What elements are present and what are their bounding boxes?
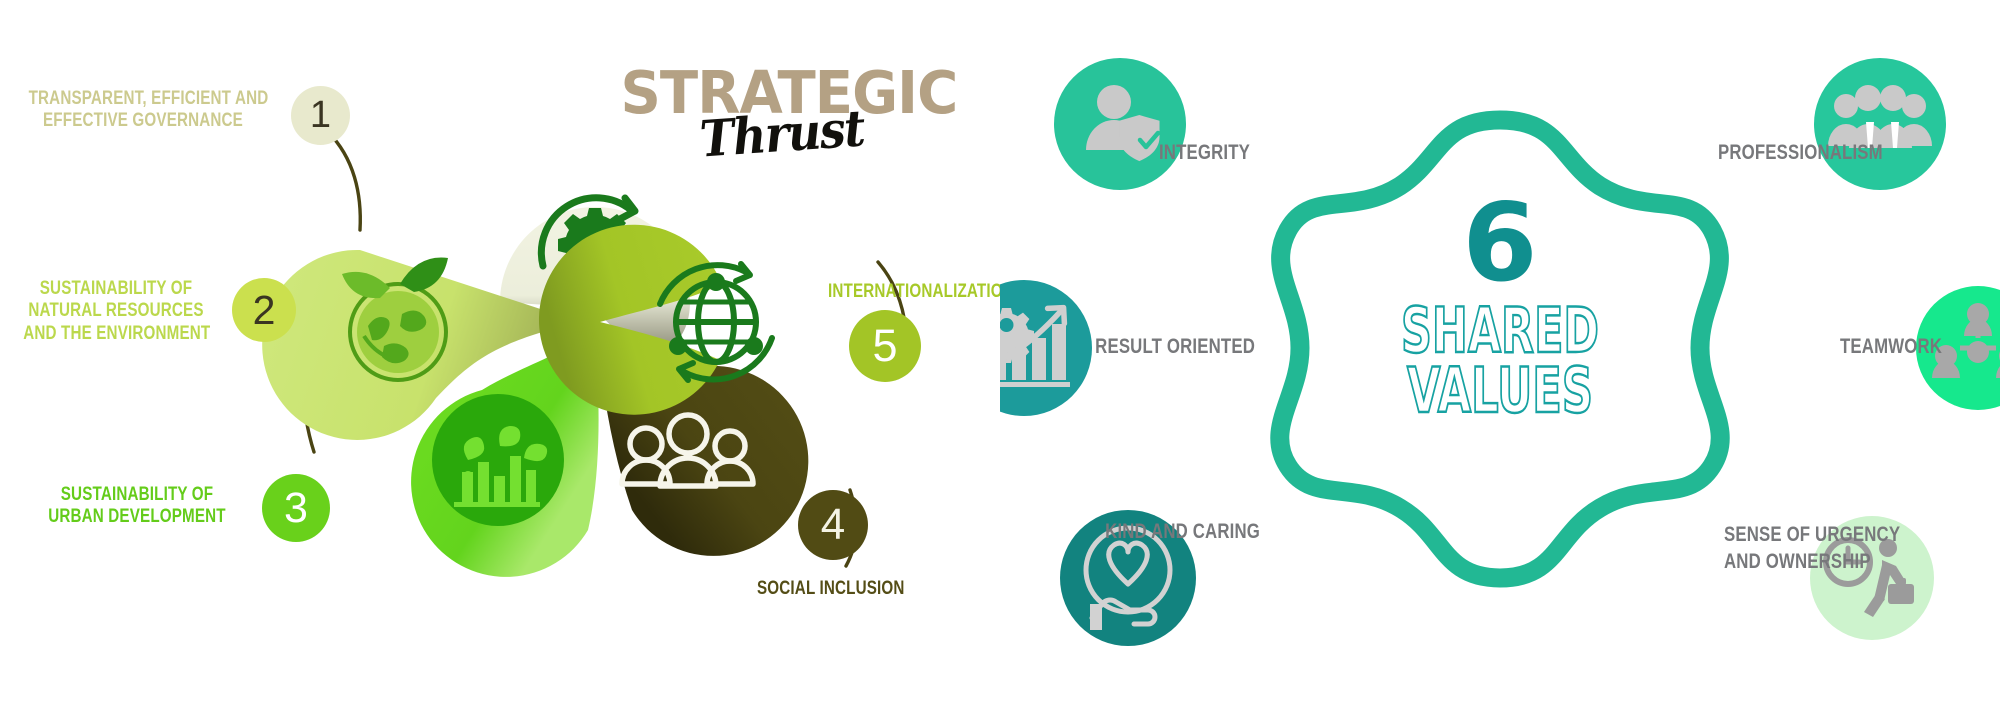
- thrust-badge-1[interactable]: 1: [291, 86, 350, 145]
- value-label-sense-of-urgency: SENSE OF URGENCYAND OWNERSHIP: [1724, 521, 1948, 576]
- value-label-result-oriented: RESULT ORIENTED: [1059, 335, 1255, 360]
- strategic-thrust-panel: STRATEGIC Thrust: [0, 0, 1000, 706]
- value-label-integrity: INTEGRITY: [1066, 141, 1250, 166]
- value-label-professionalism: PROFESSIONALISM: [1718, 141, 1950, 166]
- thrust-label-natural-resources: SUSTAINABILITY OFNATURAL RESOURCESAND TH…: [23, 278, 209, 345]
- thrust-badge-3[interactable]: 3: [262, 474, 330, 542]
- thrust-label-governance: TRANSPARENT, EFFICIENT ANDEFFECTIVE GOVE…: [29, 88, 258, 133]
- value-circle-integrity[interactable]: [1054, 58, 1186, 190]
- thrust-badge-2[interactable]: 2: [232, 278, 296, 342]
- thrust-label-urban-development: SUSTAINABILITY OFURBAN DEVELOPMENT: [35, 484, 238, 529]
- thrust-label-social-inclusion: SOCIAL INCLUSION: [757, 578, 941, 600]
- value-circle-professionalism[interactable]: [1814, 58, 1946, 190]
- values-line-2: VALUES: [1407, 354, 1593, 427]
- thrust-badge-4[interactable]: 4: [798, 490, 868, 560]
- shared-values-center: 6 SHARED VALUES: [1401, 181, 1599, 427]
- thrust-badge-5[interactable]: 5: [849, 310, 921, 382]
- values-count: 6: [1462, 181, 1537, 306]
- value-label-kind-and-caring: KIND AND CARING: [1060, 520, 1260, 545]
- value-label-teamwork: TEAMWORK: [1840, 335, 2000, 360]
